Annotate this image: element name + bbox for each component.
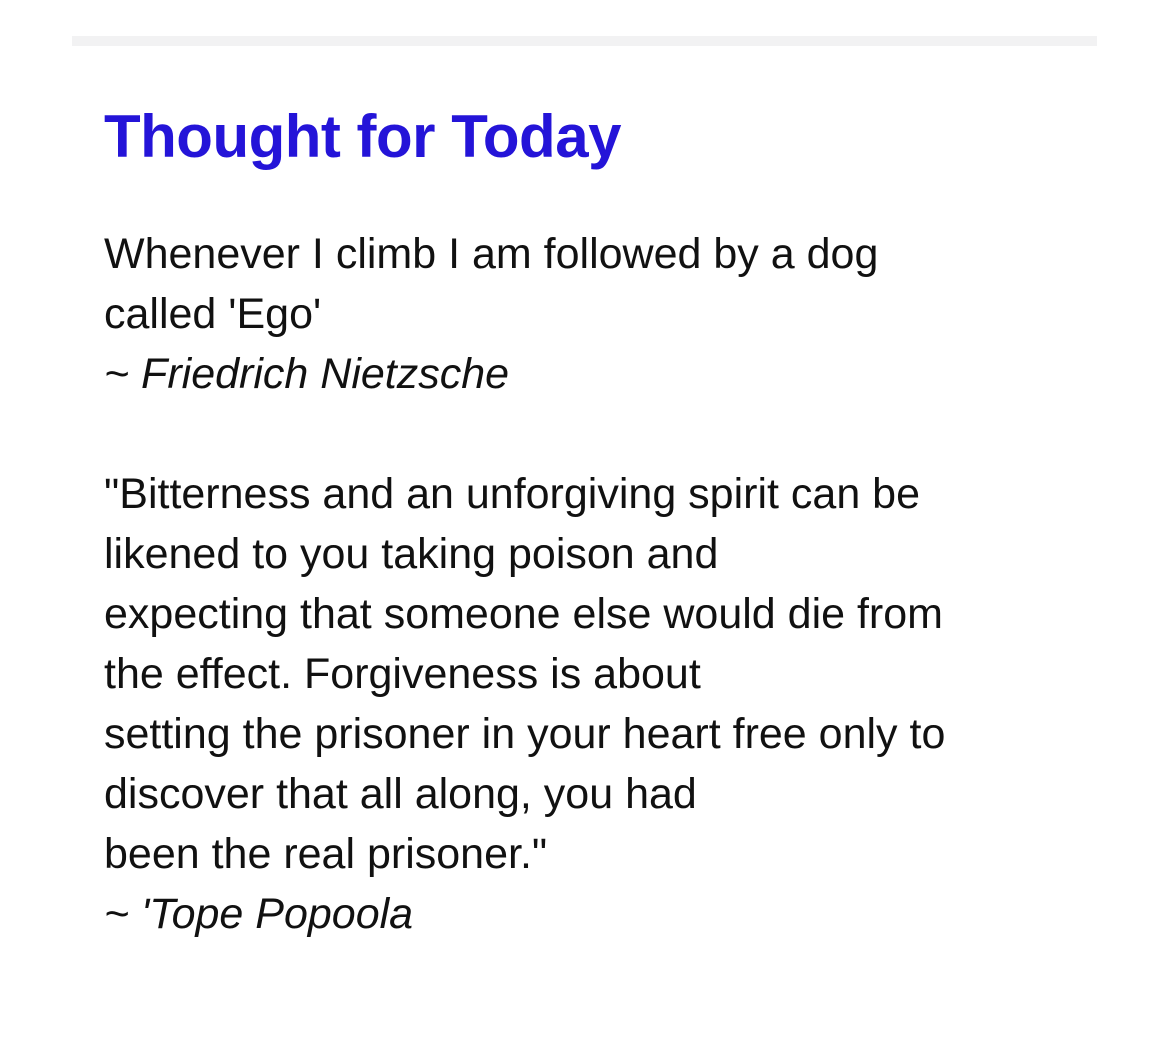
quote-line: setting the prisoner in your heart free …	[104, 704, 1104, 764]
top-divider-rule	[72, 36, 1097, 46]
quote-area: Whenever I climb I am followed by a dog …	[104, 224, 1104, 944]
quote-attribution: ~ 'Tope Popoola	[104, 884, 1104, 944]
quote-block-nietzsche: Whenever I climb I am followed by a dog …	[104, 224, 1104, 404]
quote-line: expecting that someone else would die fr…	[104, 584, 1104, 644]
quote-line: been the real prisoner."	[104, 824, 1104, 884]
quote-line: Whenever I climb I am followed by a dog	[104, 224, 1104, 284]
quote-attribution: ~ Friedrich Nietzsche	[104, 344, 1104, 404]
quote-line: likened to you taking poison and	[104, 524, 1104, 584]
page-root: Thought for Today Whenever I climb I am …	[0, 0, 1170, 1046]
page-title: Thought for Today	[104, 104, 1104, 170]
quote-line: discover that all along, you had	[104, 764, 1104, 824]
quote-line: the effect. Forgiveness is about	[104, 644, 1104, 704]
quote-line: called 'Ego'	[104, 284, 1104, 344]
quote-block-popoola: "Bitterness and an unforgiving spirit ca…	[104, 464, 1104, 944]
content-column: Thought for Today Whenever I climb I am …	[104, 104, 1104, 944]
quote-block-spacer	[104, 404, 1104, 464]
quote-line: "Bitterness and an unforgiving spirit ca…	[104, 464, 1104, 524]
